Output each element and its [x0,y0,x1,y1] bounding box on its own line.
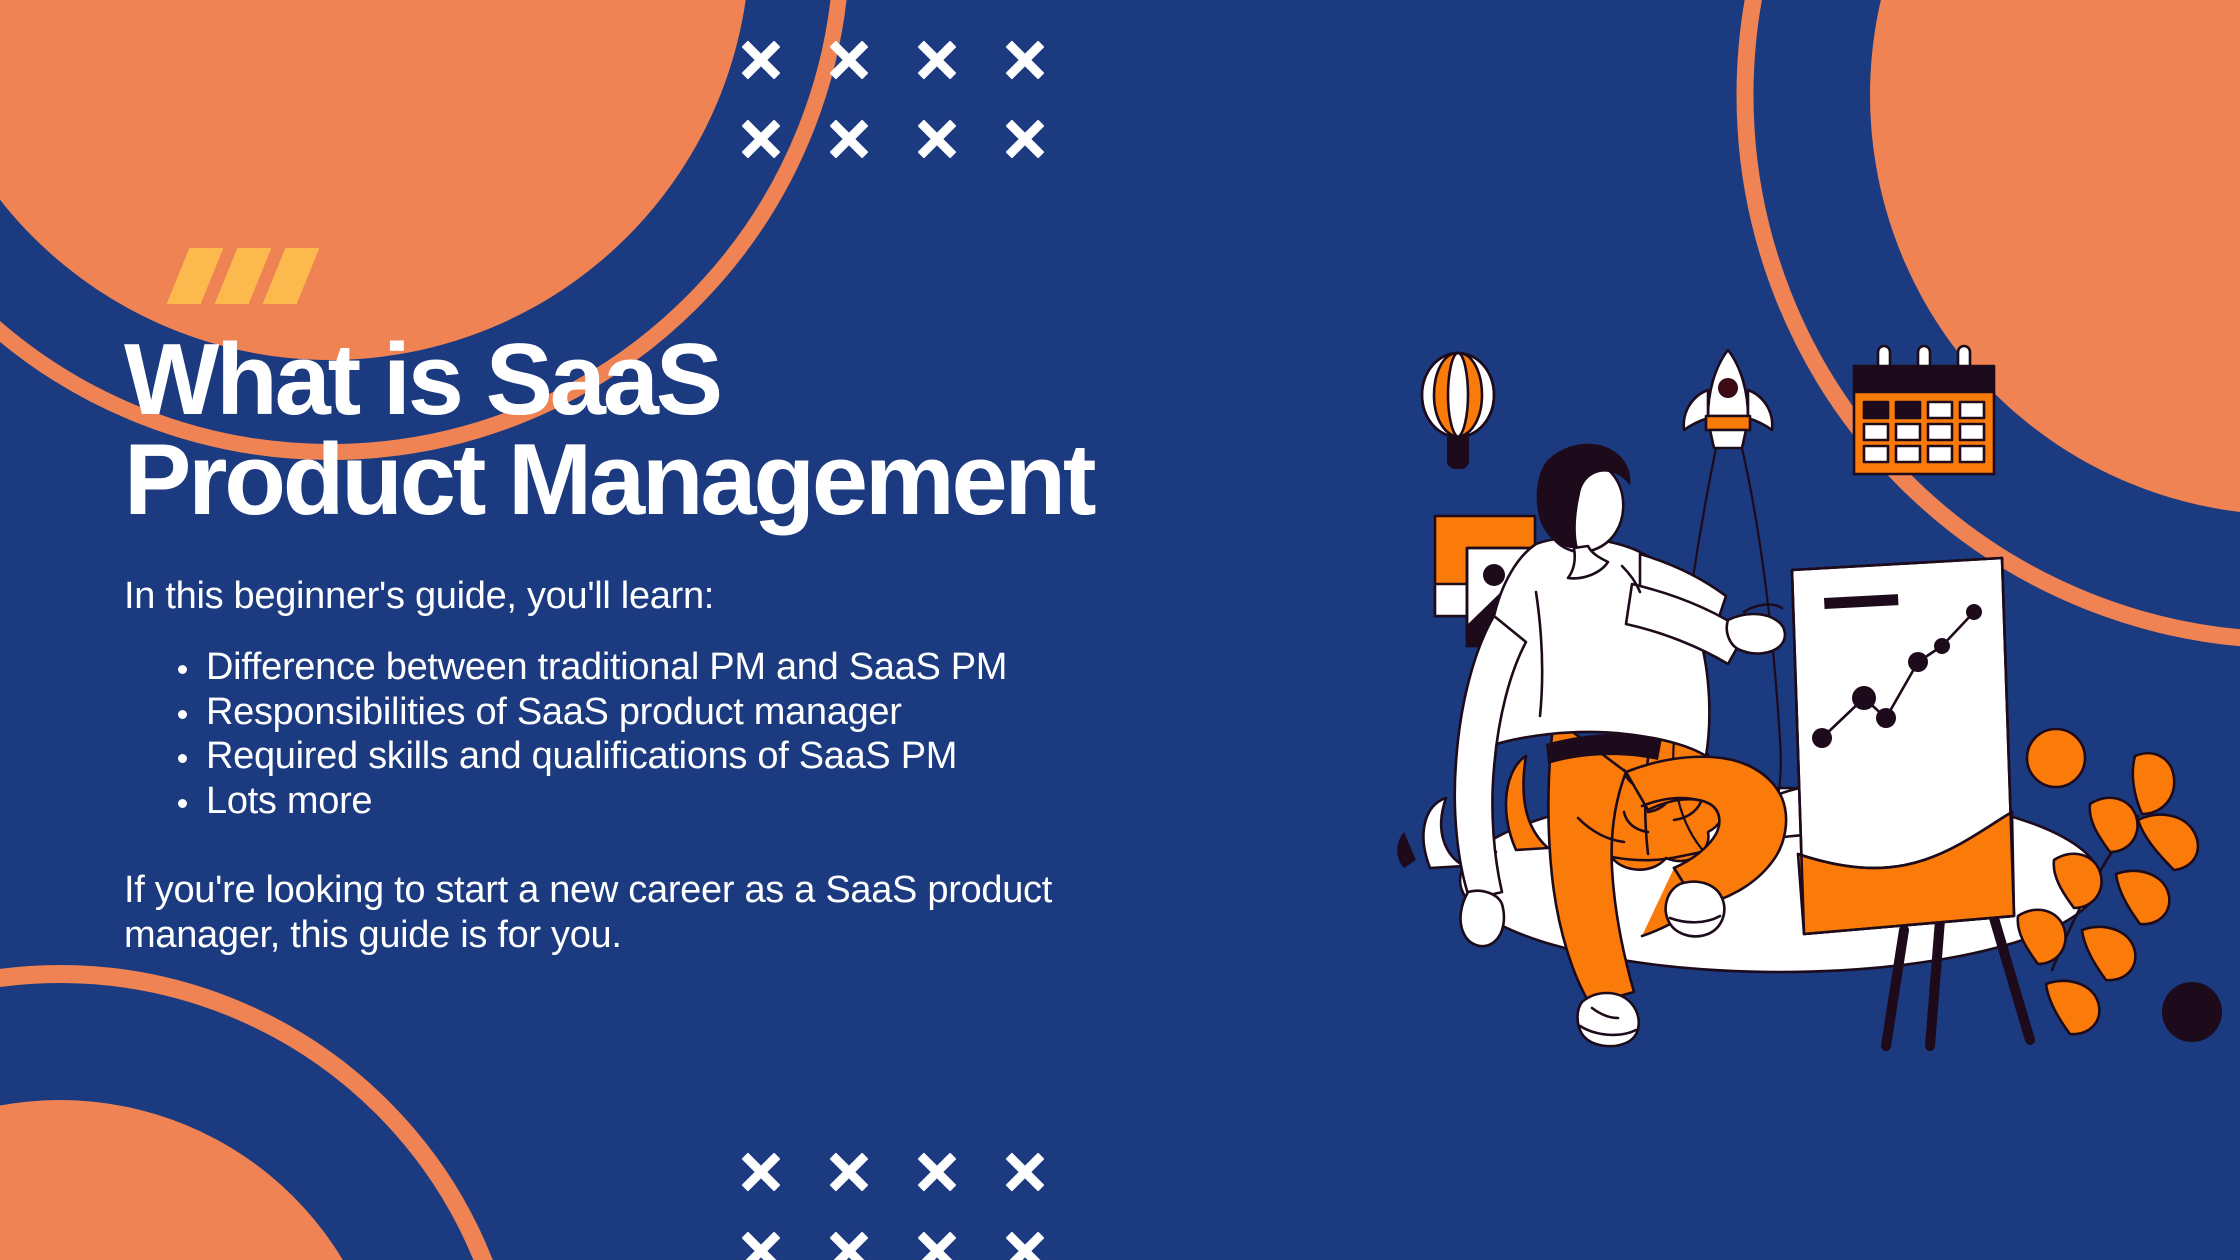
list-item: Required skills and qualifications of Sa… [170,734,1190,779]
x-mark-icon [805,20,893,99]
rocket-icon [1684,350,1773,448]
slash-marks [178,248,308,304]
x-mark-icon [981,99,1069,178]
benefits-list: Difference between traditional PM and Sa… [170,645,1444,824]
x-mark-icon [981,20,1069,99]
list-item: Responsibilities of SaaS product manager [170,690,1190,735]
x-mark-icon [805,99,893,178]
saas-product-manager-illustration [1330,320,2230,1060]
x-mark-icon [981,1211,1069,1260]
x-pattern-bottom [717,1132,1069,1260]
x-mark-icon [893,1132,981,1211]
x-mark-icon [981,1132,1069,1211]
orange-dot-decoration [2027,729,2085,787]
closing-paragraph: If you're looking to start a new career … [124,868,1184,958]
text-column: What is SaaS Product Management In this … [124,330,1444,958]
x-mark-icon [893,1211,981,1260]
flip-chart-icon [1792,558,2030,1046]
x-pattern-top [717,20,1069,178]
slash-mark-icon [215,248,272,304]
x-mark-icon [805,1211,893,1260]
x-mark-icon [717,1132,805,1211]
list-item: Difference between traditional PM and Sa… [170,645,1190,690]
list-item: Lots more [170,779,1190,824]
slide-canvas: What is SaaS Product Management In this … [0,0,2240,1260]
calendar-icon [1854,346,1994,474]
intro-paragraph: In this beginner's guide, you'll learn: [124,574,1444,619]
hot-air-balloon-icon [1422,353,1494,469]
x-mark-icon [893,99,981,178]
page-title: What is SaaS Product Management [124,330,1444,530]
dark-dot-decoration [2162,982,2222,1042]
x-mark-icon [717,20,805,99]
x-mark-icon [717,1211,805,1260]
x-mark-icon [893,20,981,99]
x-mark-icon [717,99,805,178]
x-mark-icon [805,1132,893,1211]
